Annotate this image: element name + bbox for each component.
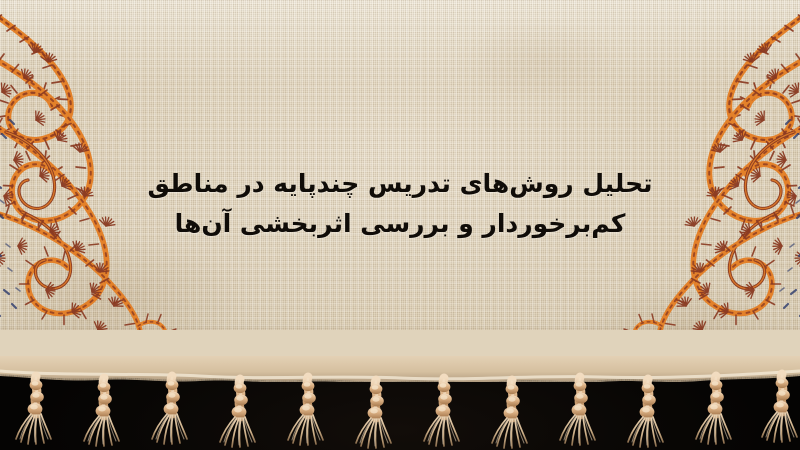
paisley-scrollwork-mirrored <box>624 0 800 372</box>
paisley-scrollwork <box>0 0 176 372</box>
ornament-left <box>0 0 318 372</box>
tassel-row <box>16 374 797 448</box>
tassel-fringe <box>0 330 800 450</box>
banner-canvas: تحلیل روش‌های تدریس چندپایه در مناطق کم‌… <box>0 0 800 450</box>
ornament-right <box>482 0 800 372</box>
